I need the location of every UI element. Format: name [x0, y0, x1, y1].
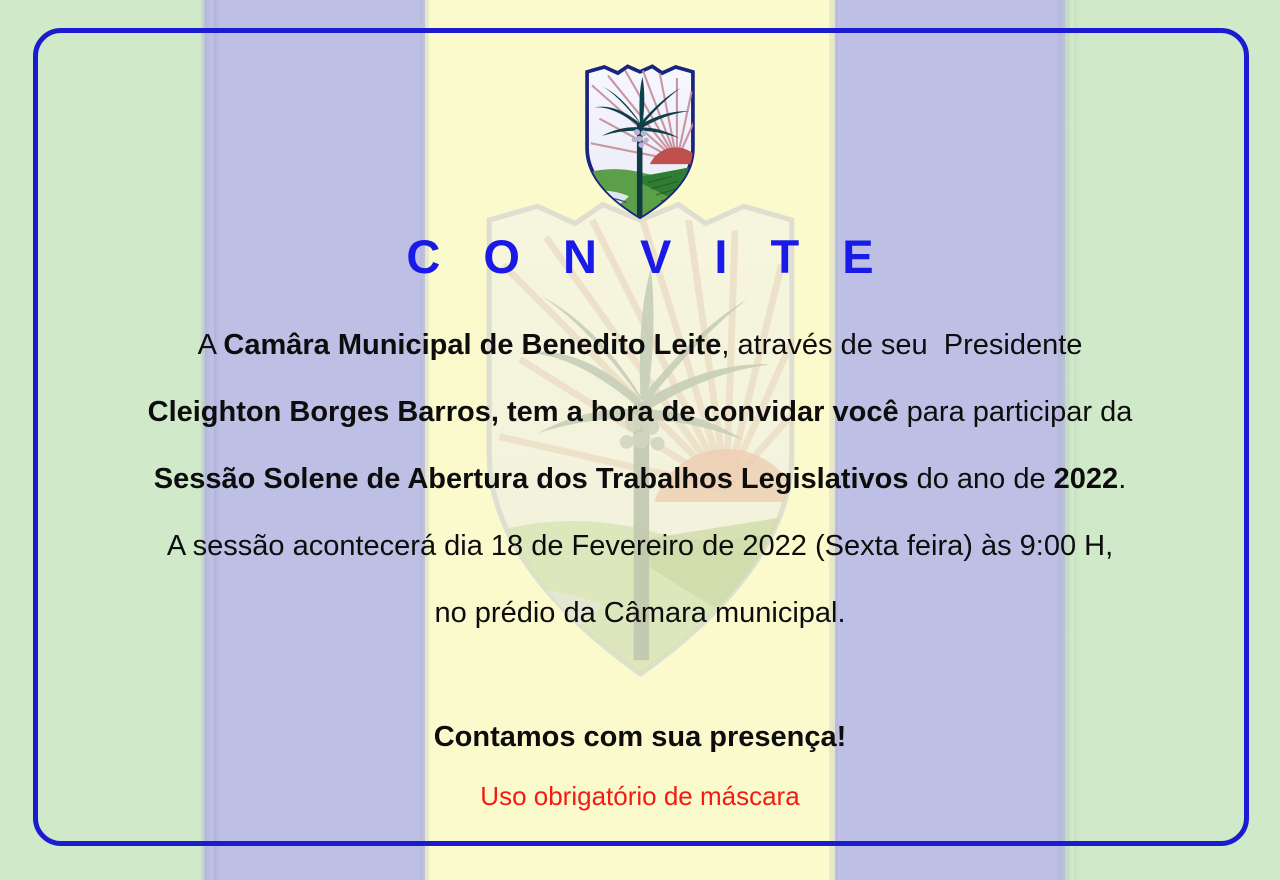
body-line-2: Cleighton Borges Barros, tem a hora de c… — [56, 379, 1224, 446]
line1-prefix: A — [198, 329, 224, 361]
organization-name: Camâra Municipal de Benedito Leite — [223, 329, 721, 361]
event-name: Sessão Solene de Abertura dos Trabalhos … — [154, 463, 909, 495]
event-year: 2022 — [1054, 463, 1119, 495]
invitation-page: C O N V I T E A Camâra Municipal de Bene… — [0, 0, 1280, 880]
president-name-and-invite: Cleighton Borges Barros, tem a hora de c… — [148, 396, 899, 428]
body-line-5-venue: no prédio da Câmara municipal. — [56, 580, 1224, 647]
line3-middle: do ano de — [909, 463, 1054, 495]
page-title: C O N V I T E — [0, 232, 1280, 281]
call-to-action-text: Contamos com sua presença! — [0, 720, 1280, 755]
body-line-1: A Camâra Municipal de Benedito Leite, at… — [56, 312, 1224, 379]
invitation-body: A Camâra Municipal de Benedito Leite, at… — [56, 312, 1224, 647]
invitation-content: C O N V I T E A Camâra Municipal de Bene… — [0, 0, 1280, 880]
line2-suffix: para participar da — [899, 396, 1133, 428]
line3-suffix: . — [1118, 463, 1126, 495]
line1-suffix: , através de seu Presidente — [721, 329, 1082, 361]
body-line-3: Sessão Solene de Abertura dos Trabalhos … — [56, 446, 1224, 513]
body-line-4-datetime: A sessão acontecerá dia 18 de Fevereiro … — [56, 513, 1224, 580]
mask-notice-text: Uso obrigatório de máscara — [0, 781, 1280, 812]
